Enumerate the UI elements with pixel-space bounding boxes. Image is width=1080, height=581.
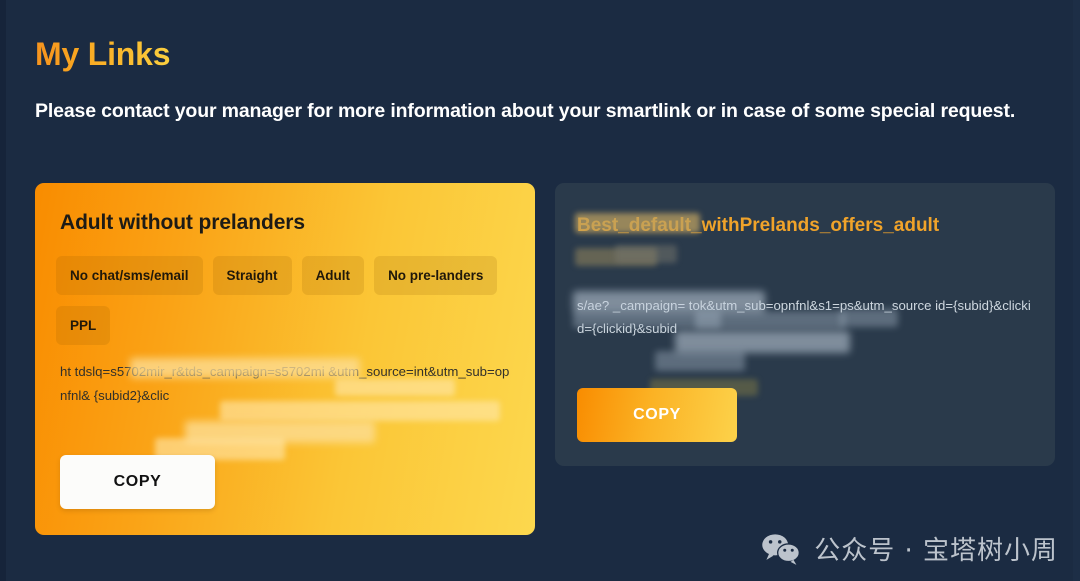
my-links-page: My Links Please contact your manager for…	[0, 0, 1080, 581]
redaction-smudge	[615, 245, 677, 263]
link-card-adult-without-prelanders[interactable]: Adult without prelanders No chat/sms/ema…	[35, 183, 535, 535]
redaction-smudge	[575, 248, 657, 266]
tag-chip: Adult	[302, 256, 365, 295]
link-card-best-default-with-prelands[interactable]: Best_default_withPrelands_offers_adult s…	[555, 183, 1055, 466]
watermark-text: 公众号 · 宝塔树小周	[814, 530, 1058, 567]
right-edge-strip	[1073, 0, 1080, 581]
tag-chip: No pre-landers	[374, 256, 497, 295]
page-subtitle: Please contact your manager for more inf…	[35, 94, 1030, 129]
watermark: 公众号 · 宝塔树小周	[761, 530, 1058, 567]
tag-chip: No chat/sms/email	[56, 256, 203, 295]
left-edge-strip	[0, 0, 6, 581]
tag-chip: PPL	[56, 306, 110, 345]
tag-chip: Straight	[213, 256, 292, 295]
copy-button[interactable]: COPY	[577, 388, 737, 442]
smartlink-url: ht tdslq=s5702mir_r&tds_campaign=s5702mi…	[60, 360, 515, 407]
wechat-icon	[761, 532, 801, 566]
redaction-smudge	[185, 421, 375, 443]
links-card-list: Adult without prelanders No chat/sms/ema…	[35, 183, 1055, 538]
copy-button[interactable]: COPY	[60, 455, 215, 509]
tag-list: No chat/sms/email Straight Adult No pre-…	[56, 256, 516, 345]
page-title: My Links	[35, 36, 170, 73]
card-title: Adult without prelanders	[60, 211, 305, 235]
smartlink-url: s/ae? _campaign= tok&utm_sub=opnfnl&s1=p…	[577, 295, 1037, 340]
redaction-smudge	[655, 351, 745, 371]
card-title: Best_default_withPrelands_offers_adult	[577, 209, 1037, 243]
